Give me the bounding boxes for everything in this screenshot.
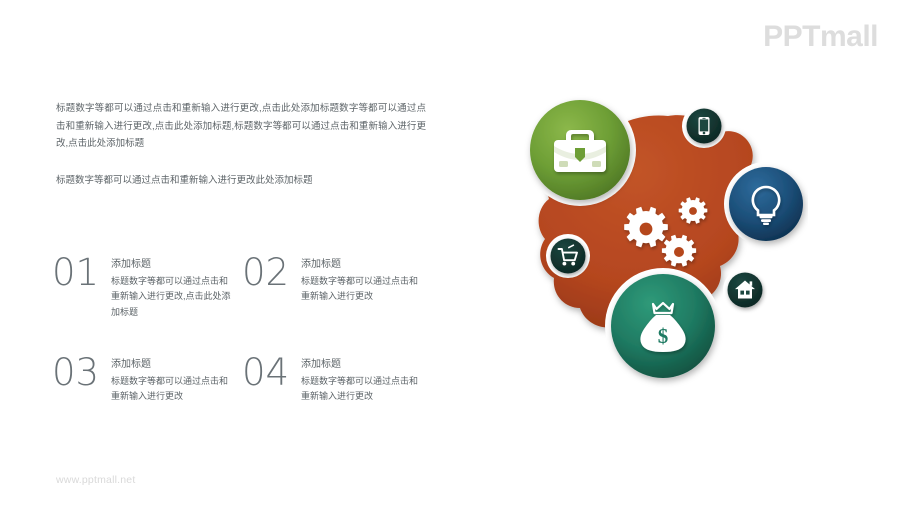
item-number: 01: [52, 255, 104, 290]
item-title: 添加标题: [301, 357, 423, 372]
intro-paragraph-2: 标题数字等都可以通过点击和重新输入进行更改此处添加标题: [56, 172, 426, 190]
node-briefcase[interactable]: [524, 94, 636, 206]
node-shopping-cart[interactable]: [546, 234, 590, 278]
node-smartphone[interactable]: [682, 104, 726, 148]
list-item[interactable]: 02 添加标题 标题数字等都可以通过点击和重新输入进行更改: [242, 255, 432, 355]
svg-text:$: $: [658, 324, 669, 348]
item-body: 添加标题 标题数字等都可以通过点击和重新输入进行更改: [294, 255, 423, 305]
footer-url: www.pptmall.net: [56, 474, 135, 486]
list-item[interactable]: 01 添加标题 标题数字等都可以通过点击和重新输入进行更改,点击此处添加标题: [52, 255, 242, 355]
item-description: 标题数字等都可以通过点击和重新输入进行更改: [301, 274, 423, 305]
item-number: 03: [52, 355, 104, 390]
item-description: 标题数字等都可以通过点击和重新输入进行更改: [301, 374, 423, 405]
numbered-items-grid: 01 添加标题 标题数字等都可以通过点击和重新输入进行更改,点击此处添加标题 0…: [52, 255, 432, 405]
list-item[interactable]: 03 添加标题 标题数字等都可以通过点击和重新输入进行更改: [52, 355, 242, 405]
item-number: 02: [242, 255, 294, 290]
smartphone-icon: [699, 117, 710, 135]
intro-paragraph-1: 标题数字等都可以通过点击和重新输入进行更改,点击此处添加标题数字等都可以通过点击…: [56, 100, 426, 153]
item-title: 添加标题: [301, 257, 423, 272]
node-lightbulb[interactable]: [724, 162, 808, 246]
node-money-bag[interactable]: $: [605, 268, 721, 384]
item-number: 04: [242, 355, 294, 390]
item-body: 添加标题 标题数字等都可以通过点击和重新输入进行更改: [104, 355, 233, 405]
item-title: 添加标题: [111, 257, 233, 272]
brand-logo-lower: mall: [820, 20, 878, 53]
left-text-column: 标题数字等都可以通过点击和重新输入进行更改,点击此处添加标题数字等都可以通过点击…: [56, 100, 426, 189]
item-description: 标题数字等都可以通过点击和重新输入进行更改,点击此处添加标题: [111, 274, 233, 320]
list-item[interactable]: 04 添加标题 标题数字等都可以通过点击和重新输入进行更改: [242, 355, 432, 405]
item-body: 添加标题 标题数字等都可以通过点击和重新输入进行更改: [294, 355, 423, 405]
node-home[interactable]: [723, 268, 767, 312]
item-body: 添加标题 标题数字等都可以通过点击和重新输入进行更改,点击此处添加标题: [104, 255, 233, 320]
item-description: 标题数字等都可以通过点击和重新输入进行更改: [111, 374, 233, 405]
brand-logo-upper: PPT: [763, 20, 820, 53]
infographic-diagram: $: [518, 88, 808, 388]
brand-logo: PPTmall: [763, 22, 878, 52]
item-title: 添加标题: [111, 357, 233, 372]
